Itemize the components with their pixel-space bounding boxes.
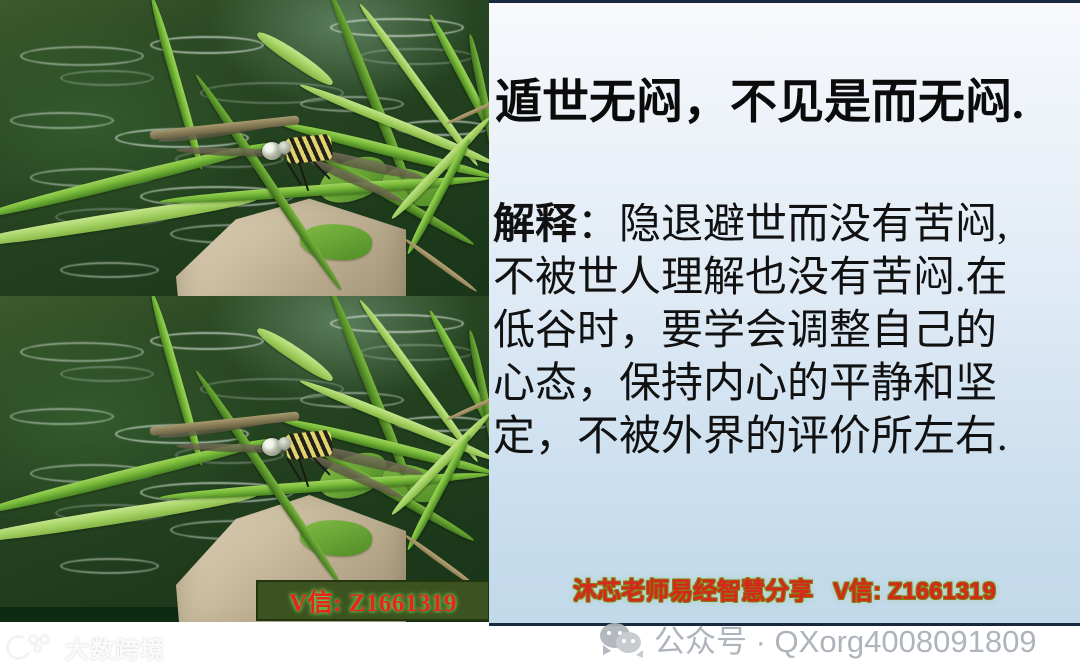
photo-column [0, 0, 489, 622]
pond-scene-repeat [0, 296, 489, 607]
slide-title: 遁世无闷，不见是而无闷. [495, 63, 1080, 132]
explanation-line: 低谷时，要学会调整自己的 [493, 305, 1080, 358]
explanation-line: 定，不被外界的评价所左右. [493, 411, 1080, 464]
explanation-line-text: ：隐退避世而没有苦闷, [577, 202, 1008, 248]
dragonfly-repeat [228, 424, 428, 494]
explanation-line: 解释：隐退避世而没有苦闷, [493, 199, 1080, 252]
slide-canvas: V信: Z1661319 遁世无闷，不见是而无闷. 解释：隐退避世而没有苦闷, … [0, 0, 1080, 668]
pond-scene [0, 0, 489, 311]
credit-author: 沐芯老师易经智慧分享 [573, 578, 813, 605]
explanation-line: 心态，保持内心的平静和坚 [493, 358, 1080, 411]
explanation-body: 解释：隐退避世而没有苦闷, 不被世人理解也没有苦闷.在 低谷时，要学会调整自己的… [493, 199, 1080, 464]
photo-contact-badge-label: V信: Z1661319 [289, 583, 457, 619]
brand-logo-label: 大数跨境 [65, 630, 165, 665]
explanation-line: 不被世人理解也没有苦闷.在 [493, 252, 1080, 305]
text-panel: 遁世无闷，不见是而无闷. 解释：隐退避世而没有苦闷, 不被世人理解也没有苦闷.在… [489, 0, 1080, 626]
dragonfly [228, 128, 428, 198]
credit-bar: 沐芯老师易经智慧分享V信: Z1661319 [489, 571, 1080, 606]
explanation-label: 解释 [493, 202, 577, 248]
photo-frame-bottom [0, 296, 489, 622]
credit-contact: V信: Z1661319 [833, 578, 996, 605]
photo-frame-top [0, 0, 489, 311]
dashu-kuajing-mark-icon [6, 633, 56, 661]
wechat-logo-icon [600, 623, 644, 653]
brand-logo: 大数跨境 [6, 631, 165, 663]
photo-contact-badge: V信: Z1661319 [256, 580, 490, 621]
